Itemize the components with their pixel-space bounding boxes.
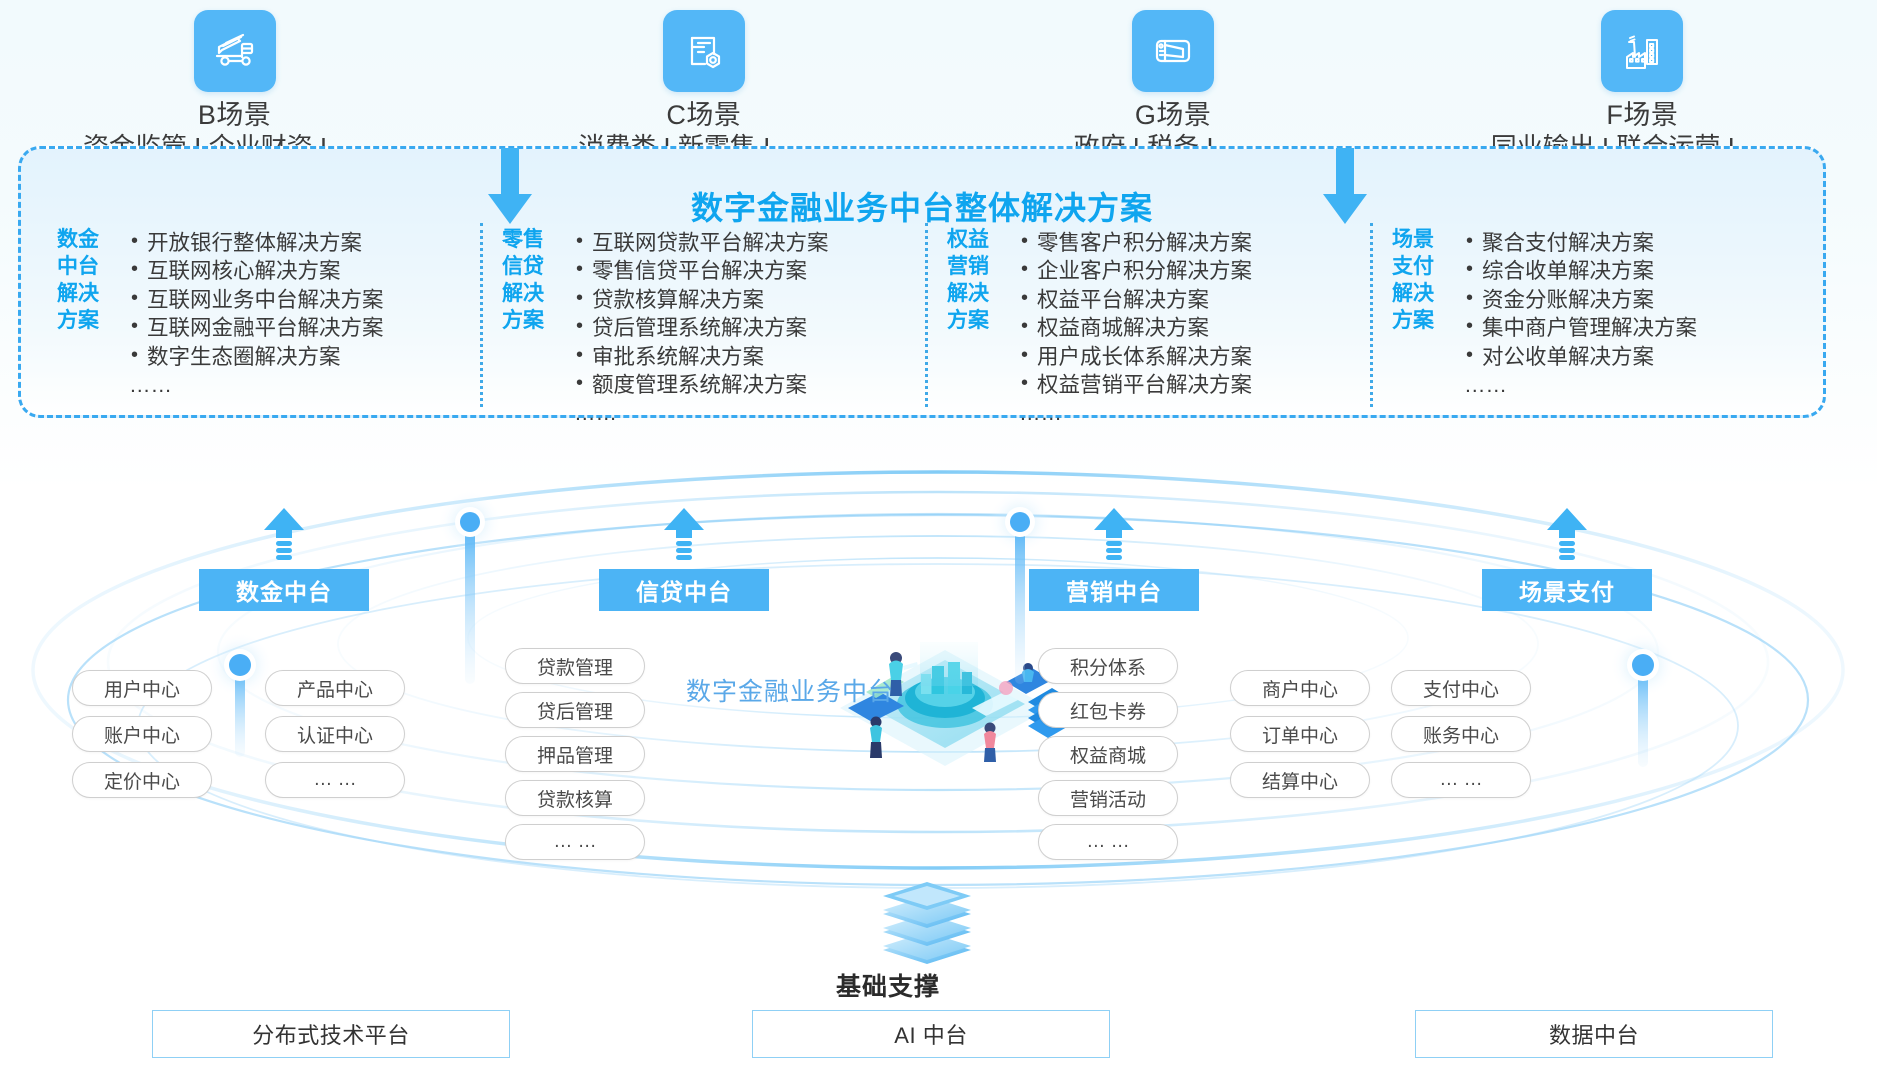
list-item: 贷后管理系统解决方案 [574,314,925,342]
list-item: 权益平台解决方案 [1019,286,1370,314]
column-label: 零售 信贷 解决 方案 [502,227,564,335]
pill-collateral-management[interactable]: 押品管理 [505,736,645,772]
pill-shujin-more[interactable]: … … [265,762,405,798]
pill-accounting-center[interactable]: 账务中心 [1391,716,1531,752]
pill-user-center[interactable]: 用户中心 [72,670,212,706]
layered-stack-icon [868,880,986,964]
panel-column-lingshouxindai: 零售 信贷 解决 方案 互联网贷款平台解决方案 零售信贷平台解决方案 贷款核算解… [480,223,925,413]
scene-title: G场景 [1135,100,1212,132]
platform-tag-zhifu[interactable]: 场景支付 [1482,569,1652,611]
list-ellipsis: …… [574,399,925,427]
column-item-list: 聚合支付解决方案 综合收单解决方案 资金分账解决方案 集中商户管理解决方案 对公… [1464,227,1815,399]
pill-yingxiao-more[interactable]: … … [1038,824,1178,860]
list-item: 权益营销平台解决方案 [1019,371,1370,399]
pill-account-center[interactable]: 账户中心 [72,716,212,752]
column-item-list: 零售客户积分解决方案 企业客户积分解决方案 权益平台解决方案 权益商城解决方案 … [1019,227,1370,428]
panel-column-changjingzhifu: 场景 支付 解决 方案 聚合支付解决方案 综合收单解决方案 资金分账解决方案 集… [1370,223,1815,413]
pill-settlement-center[interactable]: 结算中心 [1230,762,1370,798]
pill-loan-accounting[interactable]: 贷款核算 [505,780,645,816]
list-item: 互联网核心解决方案 [129,257,480,285]
list-item: 互联网金融平台解决方案 [129,314,480,342]
center-platform-label: 数字金融业务中台 [660,672,920,708]
list-item: 用户成长体系解决方案 [1019,343,1370,371]
list-item: 集中商户管理解决方案 [1464,314,1815,342]
connector-pin-xindai [435,490,505,690]
list-item: 互联网贷款平台解决方案 [574,229,925,257]
pill-order-center[interactable]: 订单中心 [1230,716,1370,752]
list-item: 额度管理系统解决方案 [574,371,925,399]
pill-post-loan-management[interactable]: 贷后管理 [505,692,645,728]
panel-column-shujin: 数金 中台 解决 方案 开放银行整体解决方案 互联网核心解决方案 互联网业务中台… [35,223,480,413]
column-label-line: 方案 [57,308,119,335]
list-item: 数字生态圈解决方案 [129,343,480,371]
column-item-list: 互联网贷款平台解决方案 零售信贷平台解决方案 贷款核算解决方案 贷后管理系统解决… [574,227,925,428]
column-label-line: 权益 [947,227,1009,254]
scene-title: B场景 [198,100,272,132]
list-item: 企业客户积分解决方案 [1019,257,1370,285]
column-label-line: 数金 [57,227,119,254]
column-item-list: 开放银行整体解决方案 互联网核心解决方案 互联网业务中台解决方案 互联网金融平台… [129,227,480,399]
list-ellipsis: …… [1019,399,1370,427]
list-item: 权益商城解决方案 [1019,314,1370,342]
column-label-line: 场景 [1392,227,1454,254]
list-ellipsis: …… [1464,371,1815,399]
pill-loan-management[interactable]: 贷款管理 [505,648,645,684]
document-approve-icon [663,10,745,92]
list-item: 贷款核算解决方案 [574,286,925,314]
list-item: 聚合支付解决方案 [1464,229,1815,257]
list-item: 对公收单解决方案 [1464,343,1815,371]
panel-column-quanyiyingxiao: 权益 营销 解决 方案 零售客户积分解决方案 企业客户积分解决方案 权益平台解决… [925,223,1370,413]
pill-merchant-center[interactable]: 商户中心 [1230,670,1370,706]
panel-columns: 数金 中台 解决 方案 开放银行整体解决方案 互联网核心解决方案 互联网业务中台… [35,223,1815,413]
list-item: 零售客户积分解决方案 [1019,229,1370,257]
list-item: 开放银行整体解决方案 [129,229,480,257]
pill-marketing-campaign[interactable]: 营销活动 [1038,780,1178,816]
column-label-line: 方案 [1392,308,1454,335]
list-item: 审批系统解决方案 [574,343,925,371]
truck-cargo-icon [194,10,276,92]
base-box-distributed-platform[interactable]: 分布式技术平台 [152,1010,510,1058]
column-label-line: 支付 [1392,254,1454,281]
pill-pricing-center[interactable]: 定价中心 [72,762,212,798]
platform-tag-yingxiao[interactable]: 营销中台 [1029,569,1199,611]
pill-rights-mall[interactable]: 权益商城 [1038,736,1178,772]
down-arrow-c [485,148,535,230]
column-label-line: 解决 [947,281,1009,308]
up-arrow-shujin [262,508,306,564]
factory-building-icon [1601,10,1683,92]
scene-title: F场景 [1606,100,1678,132]
list-item: 互联网业务中台解决方案 [129,286,480,314]
column-label: 场景 支付 解决 方案 [1392,227,1454,335]
column-label: 权益 营销 解决 方案 [947,227,1009,335]
up-arrow-yingxiao [1092,508,1136,564]
pill-zhifu-more[interactable]: … … [1391,762,1531,798]
platform-tag-xindai[interactable]: 信贷中台 [599,569,769,611]
government-flag-icon [1132,10,1214,92]
column-label: 数金 中台 解决 方案 [57,227,119,335]
column-label-line: 方案 [502,308,564,335]
base-box-ai-platform[interactable]: AI 中台 [752,1010,1110,1058]
column-label-line: 中台 [57,254,119,281]
list-item: 资金分账解决方案 [1464,286,1815,314]
column-label-line: 解决 [502,281,564,308]
pill-payment-center[interactable]: 支付中心 [1391,670,1531,706]
pill-xindai-more[interactable]: … … [505,824,645,860]
column-label-line: 营销 [947,254,1009,281]
pill-points-system[interactable]: 积分体系 [1038,648,1178,684]
column-label-line: 零售 [502,227,564,254]
down-arrow-f [1320,148,1370,230]
base-support-label: 基础支撑 [788,967,988,1003]
connector-pin-zhifu [1608,630,1678,770]
connector-pin-shujin [205,630,275,760]
scene-title: C场景 [666,100,741,132]
list-item: 零售信贷平台解决方案 [574,257,925,285]
solution-panel: 数字金融业务中台整体解决方案 数金 中台 解决 方案 开放银行整体解决方案 互联… [18,146,1826,418]
list-ellipsis: …… [129,371,480,399]
pill-product-center[interactable]: 产品中心 [265,670,405,706]
pill-auth-center[interactable]: 认证中心 [265,716,405,752]
up-arrow-zhifu [1545,508,1589,564]
column-label-line: 方案 [947,308,1009,335]
column-label-line: 解决 [1392,281,1454,308]
column-label-line: 解决 [57,281,119,308]
column-label-line: 信贷 [502,254,564,281]
list-item: 综合收单解决方案 [1464,257,1815,285]
base-box-data-platform[interactable]: 数据中台 [1415,1010,1773,1058]
pill-redpacket-coupon[interactable]: 红包卡券 [1038,692,1178,728]
platform-tag-shujin[interactable]: 数金中台 [199,569,369,611]
up-arrow-xindai [662,508,706,564]
